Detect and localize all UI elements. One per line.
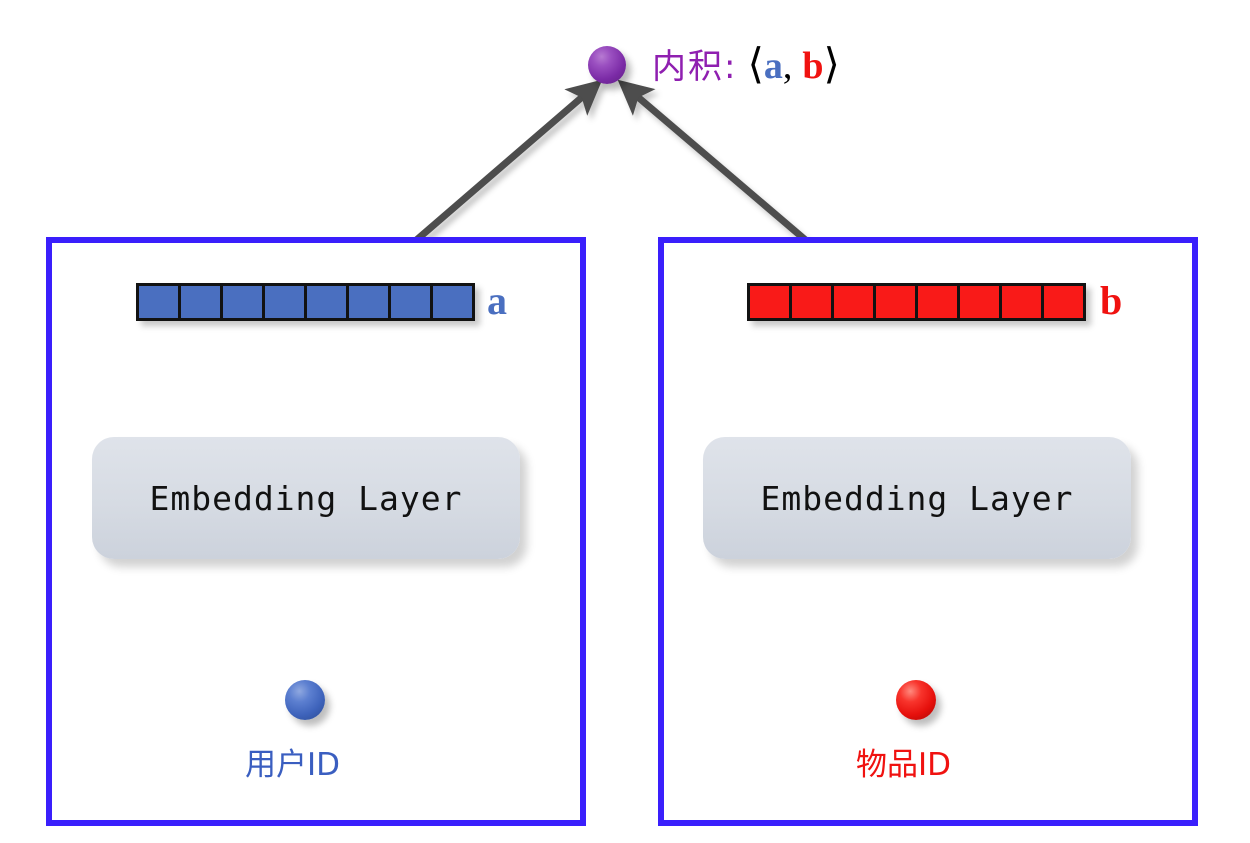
- vector-cell: [960, 286, 1002, 318]
- item-embedding-vector: [747, 283, 1086, 321]
- vector-cell: [1002, 286, 1044, 318]
- vector-cell: [1044, 286, 1083, 318]
- vector-cell: [792, 286, 834, 318]
- dot-product-caption: 内积: ⟨a, b⟩: [652, 40, 840, 92]
- dot-product-symbol-b: b: [802, 45, 823, 87]
- dot-product-node-icon: [588, 46, 626, 84]
- vector-cell: [391, 286, 433, 318]
- vector-cell: [876, 286, 918, 318]
- vector-cell: [349, 286, 391, 318]
- user-id-sphere-icon: [285, 680, 325, 720]
- user-embedding-layer-box: Embedding Layer: [92, 437, 520, 559]
- item-id-label: 物品ID: [856, 748, 951, 782]
- vector-cell: [834, 286, 876, 318]
- angle-bracket-close-icon: ⟩: [824, 42, 840, 88]
- diagram-canvas: 内积: ⟨a, b⟩ a Embedding Layer 用户ID b Embe…: [0, 0, 1250, 843]
- dot-product-label-cjk: 内积:: [652, 47, 737, 87]
- item-embedding-layer-box: Embedding Layer: [703, 437, 1131, 559]
- vector-cell: [181, 286, 223, 318]
- vector-cell: [750, 286, 792, 318]
- user-vector-label: a: [487, 281, 507, 321]
- angle-bracket-open-icon: ⟨: [747, 42, 763, 88]
- vector-cell: [223, 286, 265, 318]
- vector-cell: [433, 286, 472, 318]
- user-id-label: 用户ID: [245, 748, 340, 782]
- dot-product-symbol-a: a: [764, 45, 783, 87]
- item-id-sphere-icon: [896, 680, 936, 720]
- item-vector-label: b: [1100, 281, 1122, 321]
- dot-product-separator: ,: [783, 45, 793, 87]
- user-embedding-vector: [136, 283, 475, 321]
- vector-cell: [139, 286, 181, 318]
- vector-cell: [265, 286, 307, 318]
- vector-cell: [307, 286, 349, 318]
- vector-cell: [918, 286, 960, 318]
